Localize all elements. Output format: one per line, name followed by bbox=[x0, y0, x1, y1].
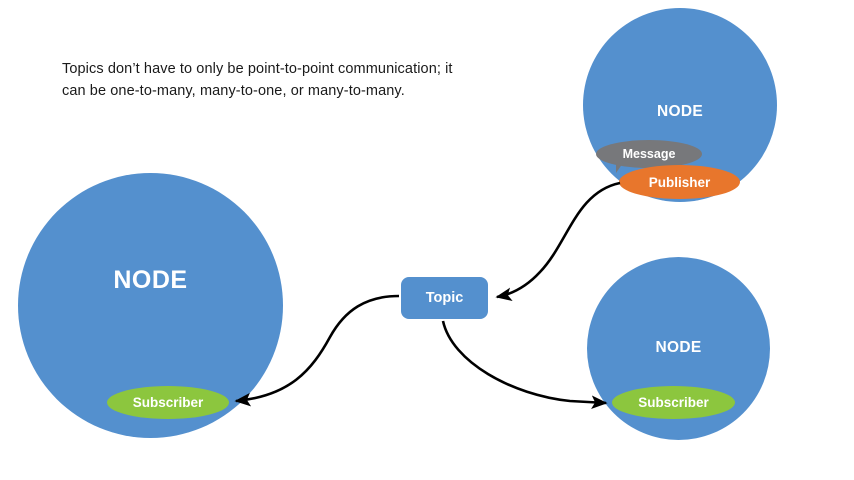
subscriber-left-label: Subscriber bbox=[133, 395, 204, 410]
caption-text: Topics don’t have to only be point-to-po… bbox=[62, 58, 482, 103]
subscriber-right-label: Subscriber bbox=[638, 395, 709, 410]
publisher-ellipse[interactable]: Publisher bbox=[619, 165, 740, 199]
arrow-publisher-to-topic bbox=[497, 183, 620, 297]
message-ellipse[interactable]: Message bbox=[596, 140, 702, 168]
caption-line-1: Topics don’t have to only be point-to-po… bbox=[62, 58, 482, 80]
node-left-label: NODE bbox=[18, 266, 283, 295]
message-label: Message bbox=[623, 147, 676, 161]
node-publisher-label: NODE bbox=[583, 103, 777, 121]
topic-box[interactable]: Topic bbox=[401, 277, 488, 319]
topic-label: Topic bbox=[426, 290, 464, 306]
subscriber-ellipse-right[interactable]: Subscriber bbox=[612, 386, 735, 419]
subscriber-ellipse-left[interactable]: Subscriber bbox=[107, 386, 229, 419]
caption-line-2: can be one-to-many, many-to-one, or many… bbox=[62, 80, 482, 102]
arrow-topic-to-subscriber-right bbox=[443, 321, 606, 403]
publisher-label: Publisher bbox=[649, 175, 711, 190]
node-subscriber-right-label: NODE bbox=[587, 339, 770, 357]
diagram-canvas: Topics don’t have to only be point-to-po… bbox=[0, 0, 854, 480]
